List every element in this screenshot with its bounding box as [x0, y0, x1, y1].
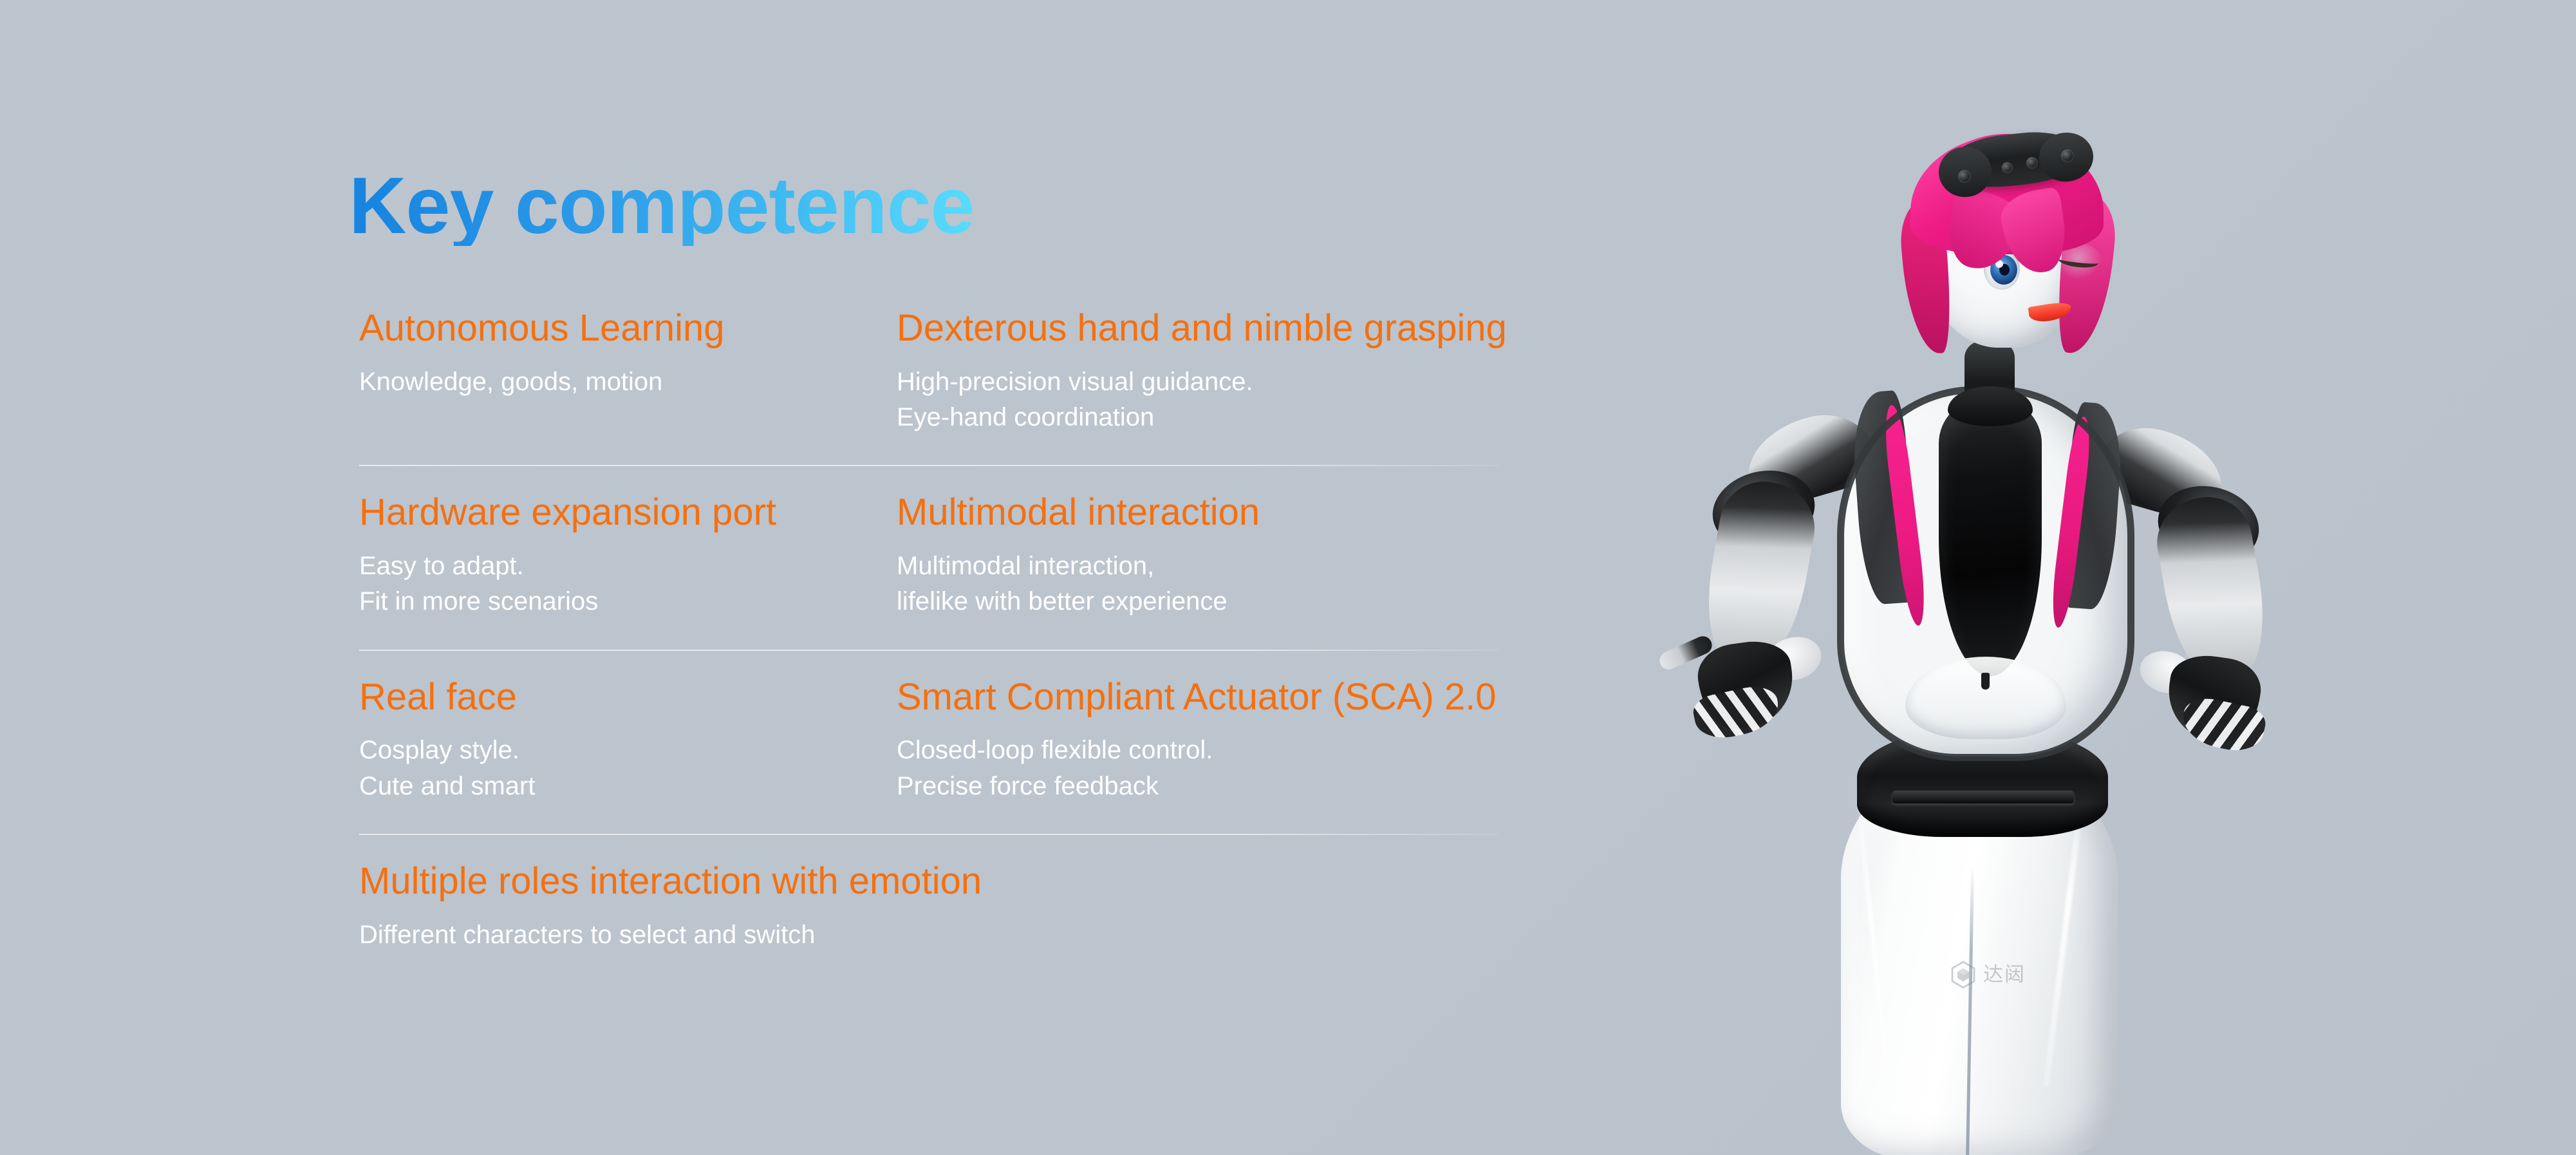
- page-title: Key competence: [349, 166, 975, 246]
- robot-torso-trim: [1837, 386, 2134, 761]
- feature-item: Real face Cosplay style. Cute and smart: [359, 678, 897, 804]
- row-divider: [359, 650, 1498, 651]
- feature-item: Multimodal interaction Multimodal intera…: [897, 493, 1434, 619]
- brand-name: 达闼: [1983, 965, 2026, 985]
- feature-item: Multiple roles interaction with emotion …: [359, 862, 1498, 953]
- feature-item: Hardware expansion port Easy to adapt. F…: [359, 493, 897, 619]
- feature-heading: Smart Compliant Actuator (SCA) 2.0: [897, 678, 1434, 717]
- feature-row: Autonomous Learning Knowledge, goods, mo…: [359, 309, 1498, 466]
- cube-hexagon-icon: [1950, 961, 1976, 989]
- feature-body: Cosplay style. Cute and smart: [359, 733, 897, 803]
- feature-body: Multimodal interaction, lifelike with be…: [897, 549, 1434, 619]
- brand-logo: 达闼: [1950, 961, 2026, 989]
- feature-row: Hardware expansion port Easy to adapt. F…: [359, 493, 1498, 650]
- feature-row: Multiple roles interaction with emotion …: [359, 862, 1498, 953]
- feature-item: Dexterous hand and nimble grasping High-…: [897, 309, 1434, 435]
- feature-heading: Hardware expansion port: [359, 493, 897, 532]
- camera-lens-icon: [1958, 170, 1971, 183]
- feature-row: Real face Cosplay style. Cute and smart …: [359, 678, 1498, 835]
- row-spacer: [359, 651, 1498, 678]
- robot-belt-slot: [1892, 791, 2074, 803]
- robot-illustration: 达闼: [1506, 39, 2298, 1155]
- feature-body: Different characters to select and switc…: [359, 917, 1498, 953]
- feature-heading: Multimodal interaction: [897, 493, 1434, 532]
- row-divider: [359, 465, 1498, 466]
- feature-body: Easy to adapt. Fit in more scenarios: [359, 549, 897, 619]
- camera-lens-icon: [2026, 157, 2038, 169]
- feature-heading: Real face: [359, 678, 897, 717]
- row-spacer: [359, 466, 1498, 493]
- row-spacer: [359, 835, 1498, 862]
- feature-heading: Autonomous Learning: [359, 309, 897, 348]
- feature-body: High-precision visual guidance. Eye-hand…: [897, 364, 1434, 435]
- feature-heading: Multiple roles interaction with emotion: [359, 862, 1498, 901]
- feature-heading: Dexterous hand and nimble grasping: [897, 309, 1434, 348]
- feature-grid: Autonomous Learning Knowledge, goods, mo…: [359, 309, 1498, 953]
- feature-body: Knowledge, goods, motion: [359, 364, 897, 400]
- camera-lens-icon: [2061, 149, 2074, 162]
- feature-item: Autonomous Learning Knowledge, goods, mo…: [359, 309, 897, 435]
- feature-item: Smart Compliant Actuator (SCA) 2.0 Close…: [897, 678, 1434, 804]
- slide-canvas: Key competence Autonomous Learning Knowl…: [0, 0, 2576, 1155]
- camera-lens-icon: [2002, 162, 2013, 173]
- row-divider: [359, 834, 1498, 835]
- feature-body: Closed-loop flexible control. Precise fo…: [897, 733, 1434, 803]
